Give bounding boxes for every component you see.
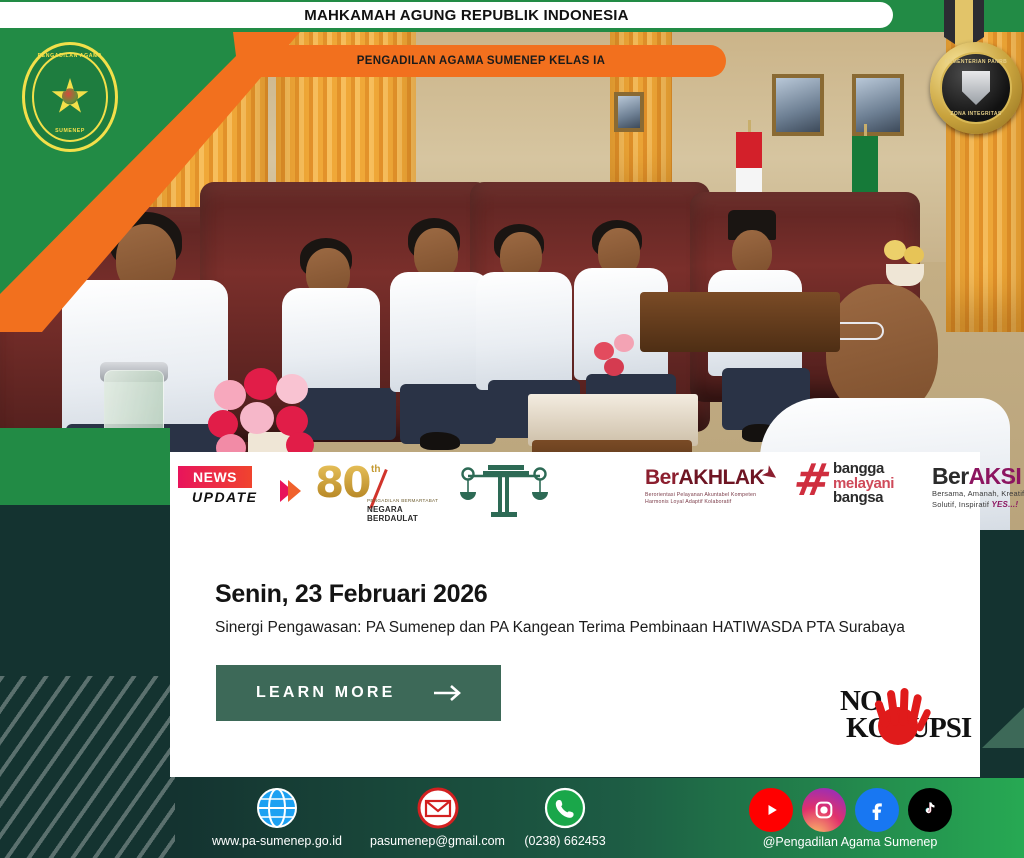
beraksi-exclaim: YES...! bbox=[991, 500, 1018, 509]
update-label: UPDATE bbox=[192, 489, 258, 505]
article-date: Senin, 23 Februari 2026 bbox=[215, 580, 487, 609]
page-title: MAHKAMAH AGUNG REPUBLIK INDONESIA bbox=[244, 7, 628, 24]
anniversary-80th-logo: 80 th PENGADILAN BERMARTABAT NEGARA BERD… bbox=[315, 462, 440, 516]
berakhlak-line1: Berorientasi Pelayanan Akuntabel Kompete… bbox=[645, 492, 785, 499]
envelope-icon bbox=[416, 786, 460, 830]
berakhlak-prefix: Ber bbox=[645, 466, 679, 489]
anniversary-tagline-small: PENGADILAN BERMARTABAT bbox=[367, 498, 438, 503]
court-seal-logo: PENGADILAN AGAMA SUMENEP bbox=[22, 42, 118, 152]
learn-more-label: LEARN MORE bbox=[256, 684, 396, 702]
berakhlak-logo: BerAKHLAK ➤ Berorientasi Pelayanan Akunt… bbox=[645, 466, 785, 506]
court-name-ribbon: PENGADILAN AGAMA SUMENEP KELAS IA bbox=[236, 45, 726, 77]
red-handprint-icon bbox=[868, 678, 934, 748]
arrow-right-icon bbox=[433, 682, 463, 704]
beraksi-prefix: Ber bbox=[932, 463, 969, 489]
seal-star-icon bbox=[51, 78, 89, 116]
seal-bottom-text: SUMENEP bbox=[34, 128, 106, 134]
globe-icon bbox=[255, 786, 299, 830]
article-headline: Sinergi Pengawasan: PA Sumenep dan PA Ka… bbox=[215, 616, 955, 640]
phone-icon bbox=[543, 786, 587, 830]
beraksi-line1: Bersama, Amanah, Kreatif, bbox=[932, 488, 1024, 499]
youtube-icon[interactable] bbox=[749, 788, 793, 832]
social-handle: @Pengadilan Agama Sumenep bbox=[700, 835, 1000, 849]
berakhlak-main: AKHLAK bbox=[679, 466, 765, 489]
scales-of-justice-icon bbox=[458, 462, 550, 518]
learn-more-button[interactable]: LEARN MORE bbox=[216, 665, 501, 721]
medal-top-text: KEMENTERIAN PANRB bbox=[942, 59, 1010, 65]
contact-footer: www.pa-sumenep.go.id pasumenep@gmail.com… bbox=[175, 778, 1024, 858]
corner-triangle-accent bbox=[982, 690, 1024, 748]
footer-phone[interactable]: (0238) 662453 bbox=[480, 786, 650, 848]
news-update-badge: NEWS UPDATE bbox=[178, 466, 258, 505]
anniversary-tagline-big: NEGARA BERDAULAT bbox=[367, 505, 440, 523]
news-card: NEWS UPDATE 80 th PENGADILAN BERMARTABAT… bbox=[170, 452, 980, 777]
hashtag-icon: # bbox=[791, 462, 831, 502]
poster-canvas: MAHKAMAH AGUNG REPUBLIK INDONESIA PENGAD… bbox=[0, 0, 1024, 858]
shield-icon bbox=[962, 71, 990, 105]
seal-top-text: PENGADILAN AGAMA bbox=[34, 53, 106, 59]
social-links: @Pengadilan Agama Sumenep bbox=[700, 788, 1000, 849]
berakhlak-line2: Harmonis Loyal Adaptif Kolaboratif bbox=[645, 499, 785, 506]
anniversary-ordinal: th bbox=[371, 464, 380, 475]
chevron-double-right-icon bbox=[280, 480, 301, 502]
beraksi-logo: BerAKSI Bersama, Amanah, Kreatif, Soluti… bbox=[932, 464, 1024, 510]
beraksi-main: AKSI bbox=[969, 463, 1022, 489]
website-label: www.pa-sumenep.go.id bbox=[197, 834, 357, 848]
phone-label: (0238) 662453 bbox=[480, 834, 650, 848]
bangga-line3: bangsa bbox=[833, 491, 894, 506]
anti-corruption-logo: NO KORUPSI bbox=[840, 680, 960, 750]
bangga-melayani-bangsa-logo: # bangga melayani bangsa bbox=[794, 462, 924, 506]
instagram-icon[interactable] bbox=[802, 788, 846, 832]
facebook-icon[interactable] bbox=[855, 788, 899, 832]
news-label: NEWS bbox=[193, 469, 237, 485]
medal-bottom-text: ZONA INTEGRITAS bbox=[942, 111, 1010, 117]
footer-website[interactable]: www.pa-sumenep.go.id bbox=[197, 786, 357, 848]
institution-title-bar: MAHKAMAH AGUNG REPUBLIK INDONESIA bbox=[0, 2, 893, 28]
tiktok-icon[interactable] bbox=[908, 788, 952, 832]
logo-strip: NEWS UPDATE 80 th PENGADILAN BERMARTABAT… bbox=[170, 452, 980, 524]
zona-integritas-medal: KEMENTERIAN PANRB ZONA INTEGRITAS bbox=[912, 0, 1016, 142]
beraksi-line2: Solutif, Inspiratif bbox=[932, 500, 989, 509]
diagonal-stripe-pattern bbox=[0, 676, 175, 858]
court-name: PENGADILAN AGAMA SUMENEP KELAS IA bbox=[357, 55, 605, 67]
